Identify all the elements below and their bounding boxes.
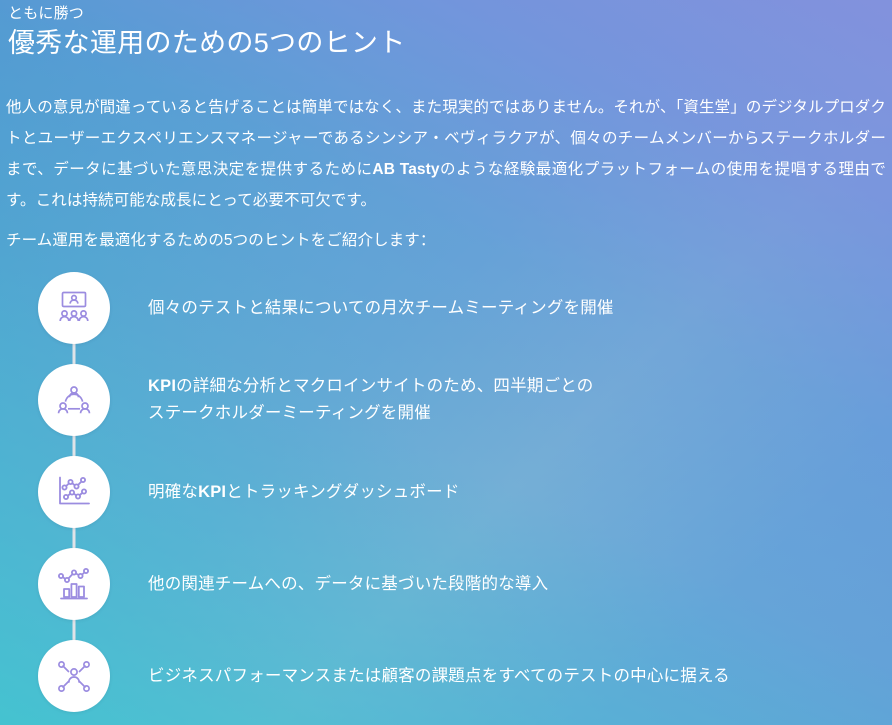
header: ともに勝つ 優秀な運用のための5つのヒント: [8, 4, 872, 61]
list-item-line: 他の関連チームへの、データに基づいた段階的な導入: [148, 571, 548, 598]
list-item-line: ビジネスパフォーマンスまたは顧客の課題点をすべてのテストの中心に据える: [148, 663, 730, 690]
icon-circle: [38, 456, 110, 528]
presentation-audience-icon: [54, 290, 94, 326]
icon-circle: [38, 364, 110, 436]
list-item-line: KPIの詳細な分析とマクロインサイトのため、四半期ごとの: [148, 373, 593, 400]
list-item-text: KPIの詳細な分析とマクロインサイトのため、四半期ごとの ステークホルダーミーテ…: [148, 373, 611, 427]
bullet-column: [0, 630, 148, 722]
bullet-column: [0, 262, 148, 354]
kpi-bold: KPI: [198, 483, 226, 501]
list-item-text: 他の関連チームへの、データに基づいた段階的な導入: [148, 571, 566, 598]
bullet-column: [0, 538, 148, 630]
list-item: ビジネスパフォーマンスまたは顧客の課題点をすべてのテストの中心に据える: [0, 630, 892, 722]
bar-chart-trend-icon: [55, 567, 93, 601]
list-item-line: ステークホルダーミーティングを開催: [148, 400, 593, 427]
list-item-line: 個々のテストと結果についての月次チームミーティングを開催: [148, 295, 614, 322]
bullet-column: [0, 354, 148, 446]
icon-circle: [38, 640, 110, 712]
people-network-triangle-icon: [55, 382, 93, 418]
tips-list: 個々のテストと結果についての月次チームミーティングを開催: [0, 262, 892, 722]
line-rest: とトラッキングダッシュボード: [226, 483, 459, 501]
list-item-text: 個々のテストと結果についての月次チームミーティングを開催: [148, 295, 632, 322]
customer-centric-network-icon: [55, 658, 93, 694]
page-title: 優秀な運用のための5つのヒント: [8, 25, 872, 61]
kicker-text: ともに勝つ: [8, 4, 872, 24]
list-item: 個々のテストと結果についての月次チームミーティングを開催: [0, 262, 892, 354]
kpi-bold: KPI: [148, 377, 176, 395]
line-rest: の詳細な分析とマクロインサイトのため、四半期ごとの: [176, 377, 593, 395]
list-item-line: 明確なKPIとトラッキングダッシュボード: [148, 479, 460, 506]
list-item: 明確なKPIとトラッキングダッシュボード: [0, 446, 892, 538]
intro-paragraph: 他人の意見が間違っていると告げることは簡単ではなく、また現実的ではありません。そ…: [6, 92, 886, 216]
list-item: 他の関連チームへの、データに基づいた段階的な導入: [0, 538, 892, 630]
lead-in-text: チーム運用を最適化するための5つのヒントをご紹介します：: [6, 228, 435, 254]
line-chart-icon: [55, 475, 93, 509]
list-item-text: 明確なKPIとトラッキングダッシュボード: [148, 479, 478, 506]
infographic-slide: ともに勝つ 優秀な運用のための5つのヒント 他人の意見が間違っていると告げること…: [0, 0, 892, 725]
icon-circle: [38, 272, 110, 344]
list-item-text: ビジネスパフォーマンスまたは顧客の課題点をすべてのテストの中心に据える: [148, 663, 748, 690]
line-pre: 明確な: [148, 483, 198, 501]
list-item: KPIの詳細な分析とマクロインサイトのため、四半期ごとの ステークホルダーミーテ…: [0, 354, 892, 446]
brand-name: AB Tasty: [372, 161, 439, 178]
bullet-column: [0, 446, 148, 538]
icon-circle: [38, 548, 110, 620]
